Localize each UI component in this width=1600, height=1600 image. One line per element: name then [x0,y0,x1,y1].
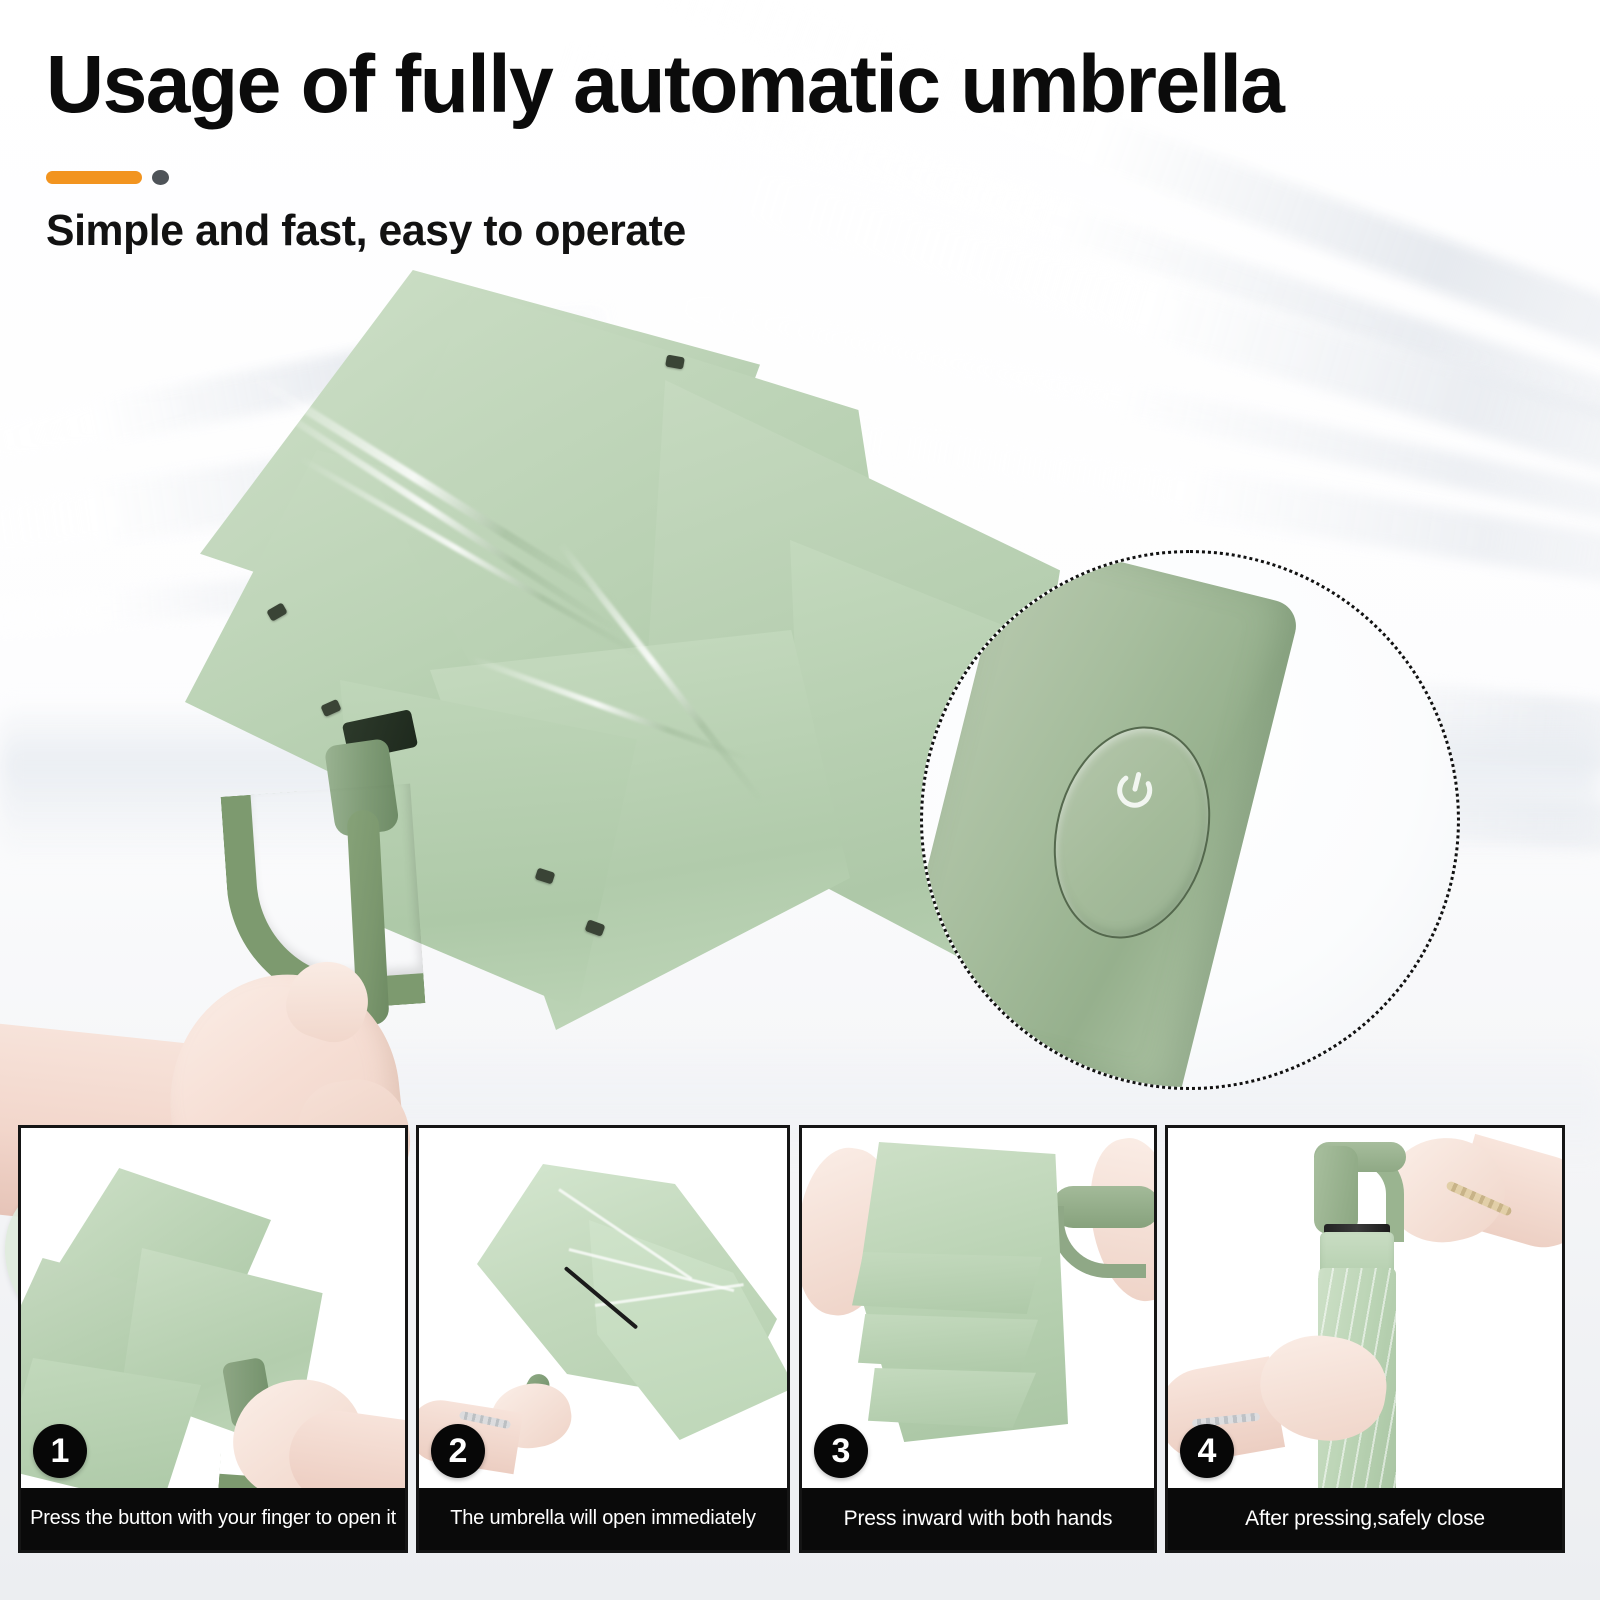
page-title: Usage of fully automatic umbrella [46,44,1284,126]
accent-divider [46,170,169,185]
step-panels: 1 Press the button with your finger to o… [0,1125,1600,1555]
step-panel-4: 4 After pressing,safely close [1165,1125,1565,1553]
infographic-root: Usage of fully automatic umbrella Simple… [0,0,1600,1600]
hero-product-image [0,250,1600,1120]
step-caption-3: Press inward with both hands [802,1488,1154,1550]
step-badge-4: 4 [1180,1424,1234,1478]
accent-dot [152,170,169,185]
step-caption-2: The umbrella will open immediately [419,1488,787,1550]
page-subtitle: Simple and fast, easy to operate [46,206,686,256]
step-badge-2: 2 [431,1424,485,1478]
step-caption-4: After pressing,safely close [1168,1488,1562,1550]
step-panel-3: 3 Press inward with both hands [799,1125,1157,1553]
step-badge-1: 1 [33,1424,87,1478]
step-panel-2: 2 The umbrella will open immediately [416,1125,790,1553]
step-panel-1: 1 Press the button with your finger to o… [18,1125,408,1553]
header: Usage of fully automatic umbrella Simple… [0,0,1600,280]
accent-bar [46,171,142,184]
step-badge-3: 3 [814,1424,868,1478]
step-caption-1: Press the button with your finger to ope… [21,1488,405,1550]
power-button-callout [920,550,1460,1090]
